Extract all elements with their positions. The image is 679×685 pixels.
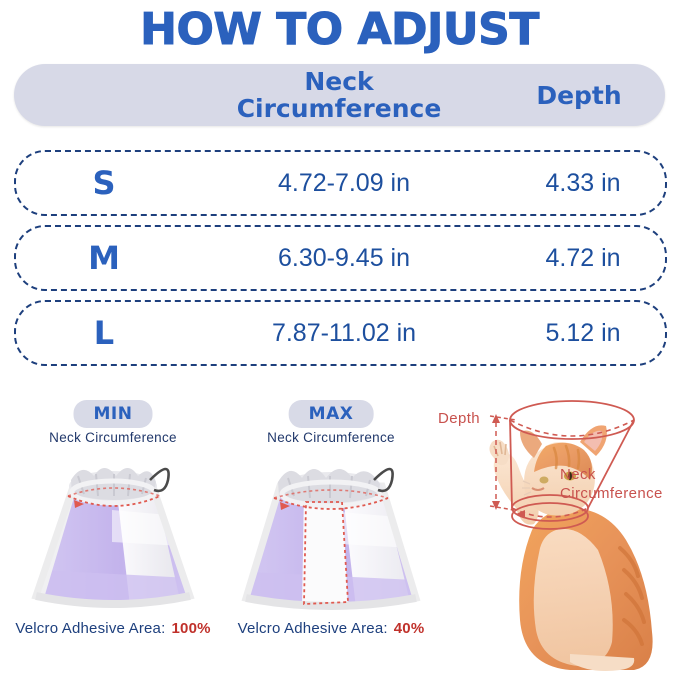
recovery-cone-min-illustration: [4, 450, 222, 618]
velcro-label: Velcro Adhesive Area:: [238, 620, 388, 637]
cone-image-min: [4, 450, 222, 618]
velcro-label: Velcro Adhesive Area:: [15, 620, 165, 637]
min-sublabel: Neck Circumference: [4, 430, 222, 445]
cone-image-max: [222, 450, 440, 618]
how-to-adjust-infographic: HOW TO ADJUST Neck Circumference Depth S…: [0, 0, 679, 685]
row-depth-value: 5.12 in: [508, 302, 658, 364]
row-neck-value: 6.30-9.45 in: [194, 227, 494, 289]
badge-max: MAX: [289, 400, 374, 428]
row-size-label: L: [56, 302, 152, 364]
recovery-cone-max-illustration: [222, 450, 440, 618]
row-depth-value: 4.72 in: [508, 227, 658, 289]
header-neck-circumference: Neck Circumference: [189, 64, 489, 126]
page-title: HOW TO ADJUST: [0, 4, 679, 55]
row-size-label: M: [56, 227, 152, 289]
illustration-max: MAX Neck Circumference: [222, 398, 440, 648]
velcro-area-max: Velcro Adhesive Area:40%: [222, 620, 440, 637]
cat-measurement-diagram: Depth Neck Circumference: [420, 380, 679, 680]
row-size-label: S: [56, 152, 152, 214]
velcro-value: 100%: [171, 620, 210, 637]
badge-min: MIN: [74, 400, 153, 428]
header-neck-line2: Circumference: [237, 94, 442, 123]
table-row: M 6.30-9.45 in 4.72 in: [14, 225, 667, 291]
row-neck-value: 4.72-7.09 in: [194, 152, 494, 214]
header-neck-line1: Neck: [304, 67, 373, 96]
illustration-min: MIN Neck Circumference: [4, 398, 222, 648]
max-sublabel: Neck Circumference: [222, 430, 440, 445]
table-header-row: Neck Circumference Depth: [14, 64, 665, 126]
depth-annotation-label: Depth: [438, 410, 480, 429]
header-depth: Depth: [504, 64, 654, 126]
neck-circumference-annotation-label: Neck Circumference: [560, 466, 663, 504]
row-neck-value: 7.87-11.02 in: [194, 302, 494, 364]
neck-annotation-line1: Neck: [560, 466, 663, 485]
velcro-area-min: Velcro Adhesive Area:100%: [4, 620, 222, 637]
neck-annotation-line2: Circumference: [560, 485, 663, 504]
row-depth-value: 4.33 in: [508, 152, 658, 214]
table-row: L 7.87-11.02 in 5.12 in: [14, 300, 667, 366]
table-row: S 4.72-7.09 in 4.33 in: [14, 150, 667, 216]
